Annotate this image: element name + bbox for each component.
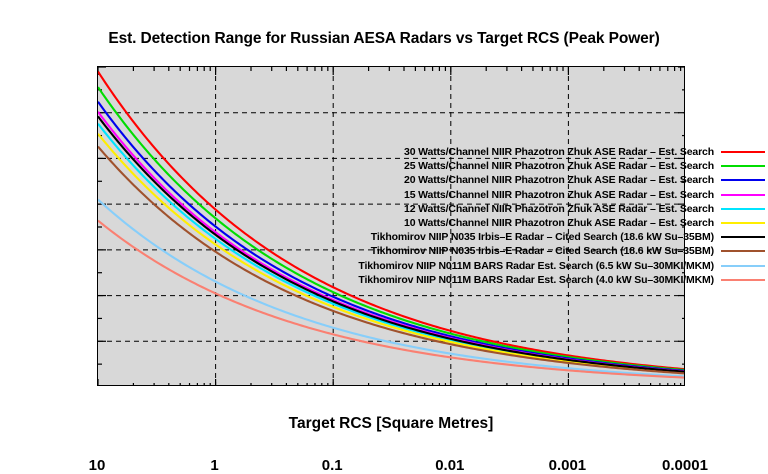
x-tick-label: 0.0001 [645,458,725,473]
x-tick-label: 0.01 [410,458,490,473]
legend-item: 15 Watts/Channel NIIR Phazotron Zhuk ASE… [303,188,765,202]
legend-color-swatch [721,222,765,224]
legend-item: 20 Watts/Channel NIIR Phazotron Zhuk ASE… [303,173,765,187]
legend-label: 15 Watts/Channel NIIR Phazotron Zhuk ASE… [404,189,714,201]
legend-label: 12 Watts/Channel NIIR Phazotron Zhuk ASE… [404,203,714,215]
chart-legend: 30 Watts/Channel NIIR Phazotron Zhuk ASE… [303,145,765,287]
legend-label: Tikhomirov NIIP N011M BARS Radar Est. Se… [358,274,714,286]
legend-color-swatch [721,194,765,196]
legend-item: 25 Watts/Channel NIIR Phazotron Zhuk ASE… [303,159,765,173]
legend-color-swatch [721,165,765,167]
x-tick-label: 0.001 [527,458,607,473]
chart-figure: Est. Detection Range for Russian AESA Ra… [0,0,768,465]
legend-label: 10 Watts/Channel NIIR Phazotron Zhuk ASE… [404,217,714,229]
legend-color-swatch [721,279,765,281]
legend-item: Tikhomirov NIIP N035 Irbis–E Radar – Cit… [303,244,765,258]
legend-label: Tikhomirov NIIP N011M BARS Radar Est. Se… [358,260,714,272]
legend-label: Tikhomirov NIIP N035 Irbis–E Radar – Cit… [371,245,714,257]
x-tick-label: 10 [57,458,137,473]
legend-label: 30 Watts/Channel NIIR Phazotron Zhuk ASE… [404,146,714,158]
legend-color-swatch [721,265,765,267]
legend-item: Tikhomirov NIIP N035 Irbis–E Radar – Cit… [303,230,765,244]
legend-label: 20 Watts/Channel NIIR Phazotron Zhuk ASE… [404,174,714,186]
chart-title: Est. Detection Range for Russian AESA Ra… [0,30,768,48]
legend-label: 25 Watts/Channel NIIR Phazotron Zhuk ASE… [404,160,714,172]
legend-color-swatch [721,151,765,153]
x-tick-label: 1 [175,458,255,473]
legend-item: Tikhomirov NIIP N011M BARS Radar Est. Se… [303,273,765,287]
legend-color-swatch [721,236,765,238]
x-tick-label: 0.1 [292,458,372,473]
legend-item: Tikhomirov NIIP N011M BARS Radar Est. Se… [303,259,765,273]
legend-item: 10 Watts/Channel NIIR Phazotron Zhuk ASE… [303,216,765,230]
legend-color-swatch [721,208,765,210]
legend-item: 12 Watts/Channel NIIR Phazotron Zhuk ASE… [303,202,765,216]
legend-label: Tikhomirov NIIP N035 Irbis–E Radar – Cit… [371,231,714,243]
x-axis-label: Target RCS [Square Metres] [97,415,685,433]
legend-item: 30 Watts/Channel NIIR Phazotron Zhuk ASE… [303,145,765,159]
legend-color-swatch [721,250,765,252]
plot-wrapper: 050100150200250300350 1010.10.010.0010.0… [97,66,685,386]
legend-color-swatch [721,179,765,181]
